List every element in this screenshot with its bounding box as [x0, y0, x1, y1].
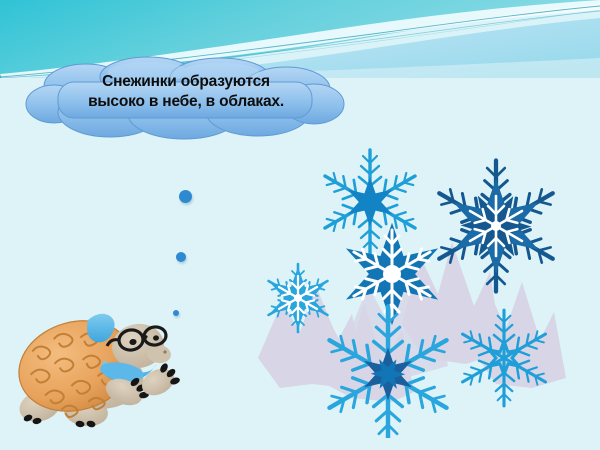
thought-cloud: Снежинки образуются высоко в небе, в обл… — [24, 56, 346, 140]
snowflake-top-left-fern — [319, 150, 420, 254]
turtle-nostril — [163, 350, 166, 353]
slide-canvas: Снежинки образуются высоко в небе, в обл… — [0, 0, 600, 450]
thought-dot-large — [179, 190, 192, 203]
turtle-with-glasses — [4, 296, 184, 432]
snowflake-cluster — [252, 126, 600, 438]
thought-dot-medium — [176, 252, 186, 262]
